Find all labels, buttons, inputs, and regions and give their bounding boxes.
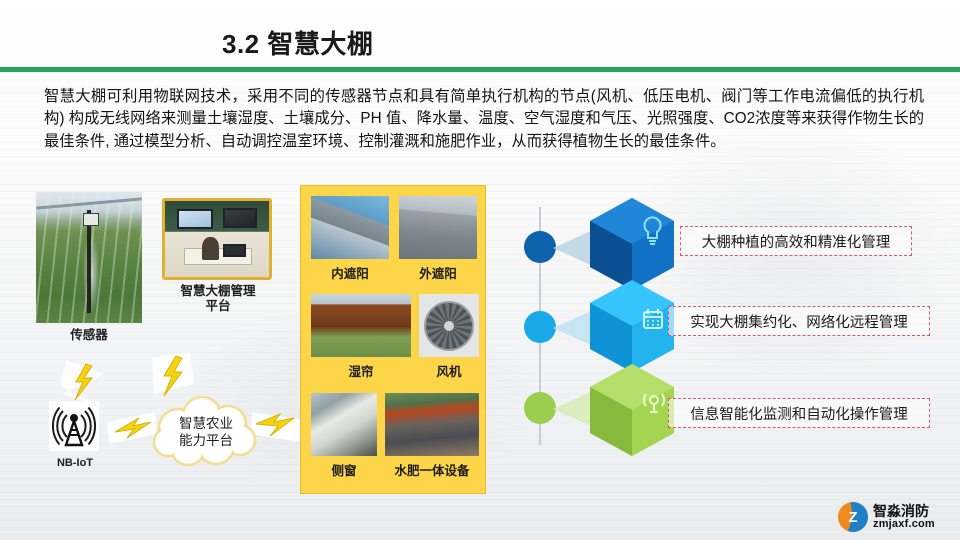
cloud-label: 智慧农业 能力平台 xyxy=(150,396,262,468)
sensor-head xyxy=(83,213,99,226)
operator-figure xyxy=(202,237,219,260)
photo-fan xyxy=(419,294,479,357)
logo-name-cn: 智淼消防 xyxy=(873,504,935,519)
cloud-shape-platform: 智慧农业 能力平台 xyxy=(150,396,262,468)
equipment-panel: 内遮阳 外遮阳 湿帘 风机 侧窗 水肥一体设备 xyxy=(300,185,486,494)
equipment-label: 风机 xyxy=(419,361,479,380)
equipment-item: 水肥一体设备 xyxy=(385,393,479,479)
photo-wet-curtain xyxy=(311,294,411,357)
equipment-item: 湿帘 xyxy=(311,294,411,380)
timeline-dot-3[interactable] xyxy=(524,392,556,424)
caption-line-2: 平台 xyxy=(205,299,230,313)
equipment-label: 侧窗 xyxy=(311,460,377,479)
screen-right xyxy=(223,208,256,229)
photo-fertigation-equipment xyxy=(385,393,479,456)
greenhouse-rail xyxy=(36,198,142,210)
timeline-dot-1[interactable] xyxy=(524,231,556,263)
callout-box-1: 大棚种植的高效和精准化管理 xyxy=(680,226,912,256)
cube-3[interactable] xyxy=(586,362,678,458)
callout-box-3: 信息智能化监测和自动化操作管理 xyxy=(668,398,930,428)
body-paragraph: 智慧大棚可利用物联网技术，采用不同的传感器节点和具有简单执行机构的节点(风机、低… xyxy=(44,86,924,153)
equipment-item: 风机 xyxy=(419,294,479,380)
title-divider xyxy=(0,67,960,72)
photo-side-window xyxy=(311,393,377,456)
equipment-item: 内遮阳 xyxy=(311,196,389,282)
screen-left xyxy=(177,209,212,230)
cube-2[interactable] xyxy=(586,278,678,374)
photo-sensor xyxy=(36,192,142,323)
equipment-label: 外遮阳 xyxy=(399,263,477,282)
fan-blade-icon xyxy=(424,301,474,351)
equipment-label: 湿帘 xyxy=(311,361,411,380)
slide: 3.2 智慧大棚 智慧大棚可利用物联网技术，采用不同的传感器节点和具有简单执行机… xyxy=(0,0,960,540)
brand-logo[interactable]: 智淼消防 zmjaxf.com xyxy=(838,500,950,534)
logo-domain: zmjaxf.com xyxy=(873,519,935,531)
zm-logo-icon xyxy=(838,502,868,532)
photo-management-platform xyxy=(162,198,272,280)
antenna-tower-icon xyxy=(49,401,99,451)
lightning-bolt-icon xyxy=(60,356,108,408)
page-title: 3.2 智慧大棚 xyxy=(222,24,373,61)
cloud-label-line-1: 智慧农业 xyxy=(179,415,233,432)
caption-management-platform: 智慧大棚管理 平台 xyxy=(148,284,288,314)
equipment-item: 外遮阳 xyxy=(399,196,477,282)
equipment-item: 侧窗 xyxy=(311,393,377,479)
equipment-label: 水肥一体设备 xyxy=(385,460,479,479)
caption-sensor: 传感器 xyxy=(36,328,142,343)
caption-nbiot: NB-IoT xyxy=(40,456,110,471)
screen-desk xyxy=(223,244,246,258)
lightning-bolt-icon xyxy=(148,350,196,402)
logo-words: 智淼消防 zmjaxf.com xyxy=(873,504,935,530)
cloud-label-line-2: 能力平台 xyxy=(179,432,233,449)
caption-line-1: 智慧大棚管理 xyxy=(180,284,255,298)
equipment-label: 内遮阳 xyxy=(311,263,389,282)
timeline-dot-2[interactable] xyxy=(524,311,556,343)
callout-box-2: 实现大棚集约化、网络化远程管理 xyxy=(668,306,930,336)
photo-outer-shade xyxy=(399,196,477,259)
photo-inner-shade xyxy=(311,196,389,259)
